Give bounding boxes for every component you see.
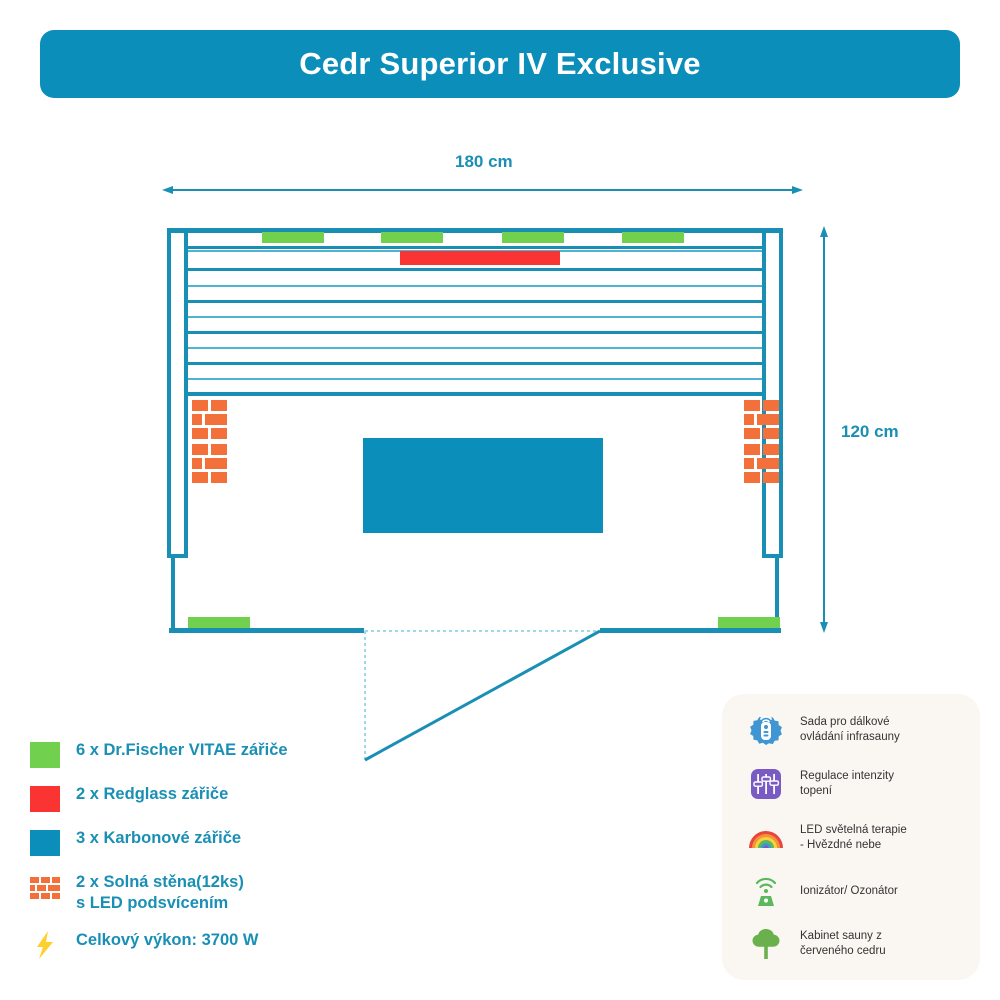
legend: 6 x Dr.Fischer VITAE zářiče 2 x Redglass… (30, 740, 360, 976)
feature-item-ionizer: Ionizátor/ Ozonátor (744, 870, 968, 914)
door-swing (365, 631, 600, 760)
feature-label: LED světelná terapie - Hvězdné nebe (800, 823, 907, 854)
brick-icon (30, 876, 60, 902)
legend-label-multiline: 2 x Solná stěna(12ks) s LED podsvícením (76, 872, 244, 914)
legend-label-line2: s LED podsvícením (76, 893, 244, 914)
feature-label-line2: topení (800, 784, 894, 799)
salt-wall-left (192, 400, 227, 483)
rainbow-icon (744, 816, 788, 860)
legend-item-redglass: 2 x Redglass zářiče (30, 784, 360, 812)
tree-icon (744, 922, 788, 966)
gear-remote-icon (744, 708, 788, 752)
feature-item-remote-control: Sada pro dálkové ovládání infrasauny (744, 708, 968, 752)
green-swatch-icon (30, 742, 60, 768)
red-swatch-icon (30, 786, 60, 812)
bench-slats (188, 246, 762, 396)
width-dimension-arrow (162, 186, 803, 194)
feature-label-line2: červeného cedru (800, 944, 886, 959)
legend-item-salt-wall: 2 x Solná stěna(12ks) s LED podsvícením (30, 872, 360, 914)
blue-swatch-icon (30, 830, 60, 856)
sliders-icon (744, 762, 788, 806)
legend-item-total-power: Celkový výkon: 3700 W (30, 930, 360, 960)
feature-label-line1: Ionizátor/ Ozonátor (800, 884, 898, 899)
ionizer-icon (744, 870, 788, 914)
feature-label-line1: LED světelná terapie (800, 823, 907, 838)
feature-label: Kabinet sauny z červeného cedru (800, 929, 886, 960)
salt-wall-right (744, 400, 779, 483)
legend-label: 6 x Dr.Fischer VITAE zářiče (76, 740, 288, 761)
height-dimension-label: 120 cm (841, 422, 899, 442)
legend-item-vitae: 6 x Dr.Fischer VITAE zářiče (30, 740, 360, 768)
legend-label: 2 x Redglass zářiče (76, 784, 228, 805)
feature-panel: Sada pro dálkové ovládání infrasauny Reg… (722, 694, 980, 980)
feature-item-cedar-cabin: Kabinet sauny z červeného cedru (744, 922, 968, 966)
green-heater-strips-top (262, 232, 684, 243)
green-heater-strips-bottom (188, 617, 780, 628)
legend-label: Celkový výkon: 3700 W (76, 930, 259, 951)
feature-label-line1: Kabinet sauny z (800, 929, 886, 944)
feature-label: Regulace intenzity topení (800, 769, 894, 800)
feature-label: Ionizátor/ Ozonátor (800, 884, 898, 899)
feature-item-heat-regulation: Regulace intenzity topení (744, 762, 968, 806)
feature-label-line2: ovládání infrasauny (800, 730, 900, 745)
lightning-icon (30, 930, 60, 960)
legend-item-carbon: 3 x Karbonové zářiče (30, 828, 360, 856)
feature-label-line1: Sada pro dálkové (800, 715, 900, 730)
carbon-heater-panel (363, 438, 603, 533)
width-dimension-label: 180 cm (455, 152, 513, 172)
legend-label: 3 x Karbonové zářiče (76, 828, 241, 849)
feature-label-line1: Regulace intenzity (800, 769, 894, 784)
height-dimension-arrow (820, 226, 828, 633)
legend-label-line1: 2 x Solná stěna(12ks) (76, 872, 244, 893)
red-glass-heater (400, 251, 560, 265)
feature-item-led-therapy: LED světelná terapie - Hvězdné nebe (744, 816, 968, 860)
feature-label-line2: - Hvězdné nebe (800, 838, 907, 853)
feature-label: Sada pro dálkové ovládání infrasauny (800, 715, 900, 746)
